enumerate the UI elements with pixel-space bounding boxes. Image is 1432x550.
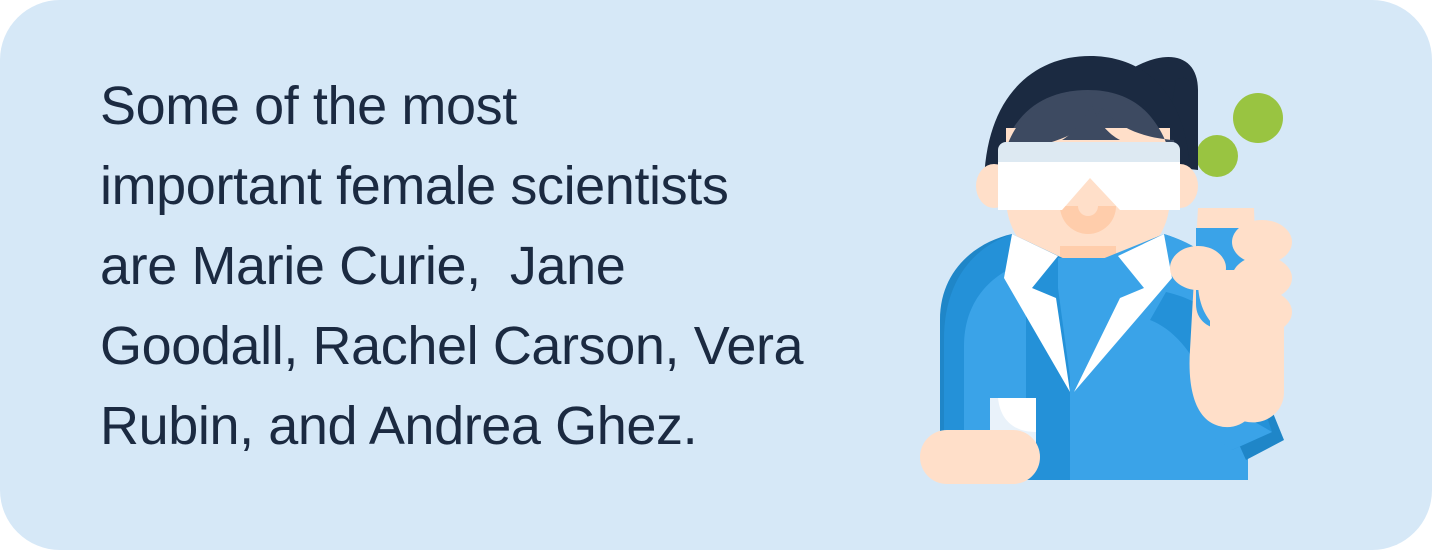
quote-line-2: important female scientists — [100, 146, 800, 226]
quote-line-4: Goodall, Rachel Carson, Vera — [100, 306, 800, 386]
quote-text-block: Some of the most important female scient… — [100, 66, 800, 466]
bubble-small-icon — [1196, 135, 1238, 177]
female-scientist-illustration — [880, 20, 1340, 500]
quote-line-5: Rubin, and Andrea Ghez. — [100, 386, 800, 466]
left-forearm-shape — [920, 430, 1040, 484]
bubble-large-icon — [1233, 93, 1283, 143]
quote-line-1: Some of the most — [100, 66, 800, 146]
quote-line-3: are Marie Curie, Jane — [100, 226, 800, 306]
info-card: Some of the most important female scient… — [0, 0, 1432, 550]
